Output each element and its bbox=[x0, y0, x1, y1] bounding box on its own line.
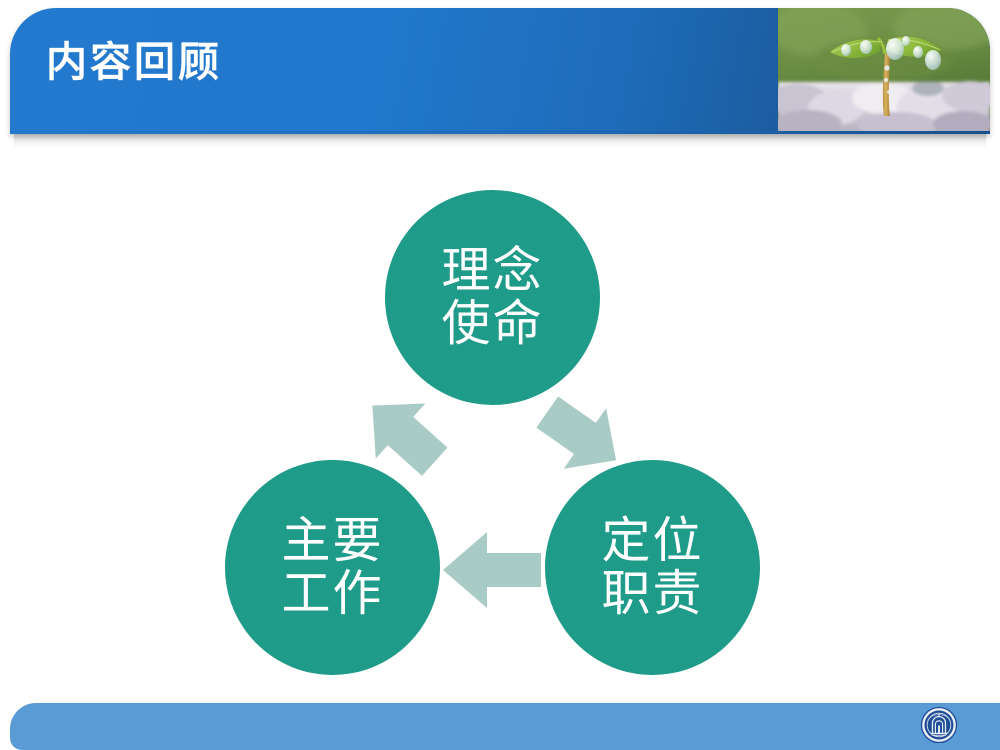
cycle-node-top-line1: 理念 bbox=[441, 245, 543, 298]
institution-seal-logo-graphic bbox=[918, 703, 960, 747]
cycle-node-bottom-right-line2: 职责 bbox=[601, 568, 703, 621]
footer-bar bbox=[10, 703, 1000, 750]
cycle-diagram: 理念 使命 定位 职责 主要 工作 bbox=[180, 170, 820, 690]
header-banner: 内容回顾 bbox=[10, 8, 990, 134]
cycle-node-bottom-left[interactable]: 主要 工作 bbox=[225, 460, 440, 675]
header-shadow bbox=[14, 134, 986, 148]
cycle-node-bottom-right[interactable]: 定位 职责 bbox=[545, 460, 760, 675]
institution-seal-logo bbox=[918, 703, 960, 747]
cycle-node-bottom-left-line1: 主要 bbox=[281, 515, 383, 568]
seedling-dew-photo-graphic bbox=[778, 8, 990, 134]
slide-canvas: 内容回顾 bbox=[0, 0, 1000, 750]
arrow-right-to-left-icon bbox=[435, 520, 555, 620]
seedling-dew-photo bbox=[778, 8, 990, 134]
cycle-node-bottom-left-line2: 工作 bbox=[281, 568, 383, 621]
cycle-node-top-line2: 使命 bbox=[441, 298, 543, 351]
cycle-node-top[interactable]: 理念 使命 bbox=[385, 190, 600, 405]
cycle-node-bottom-right-line1: 定位 bbox=[601, 515, 703, 568]
page-title: 内容回顾 bbox=[46, 42, 222, 83]
